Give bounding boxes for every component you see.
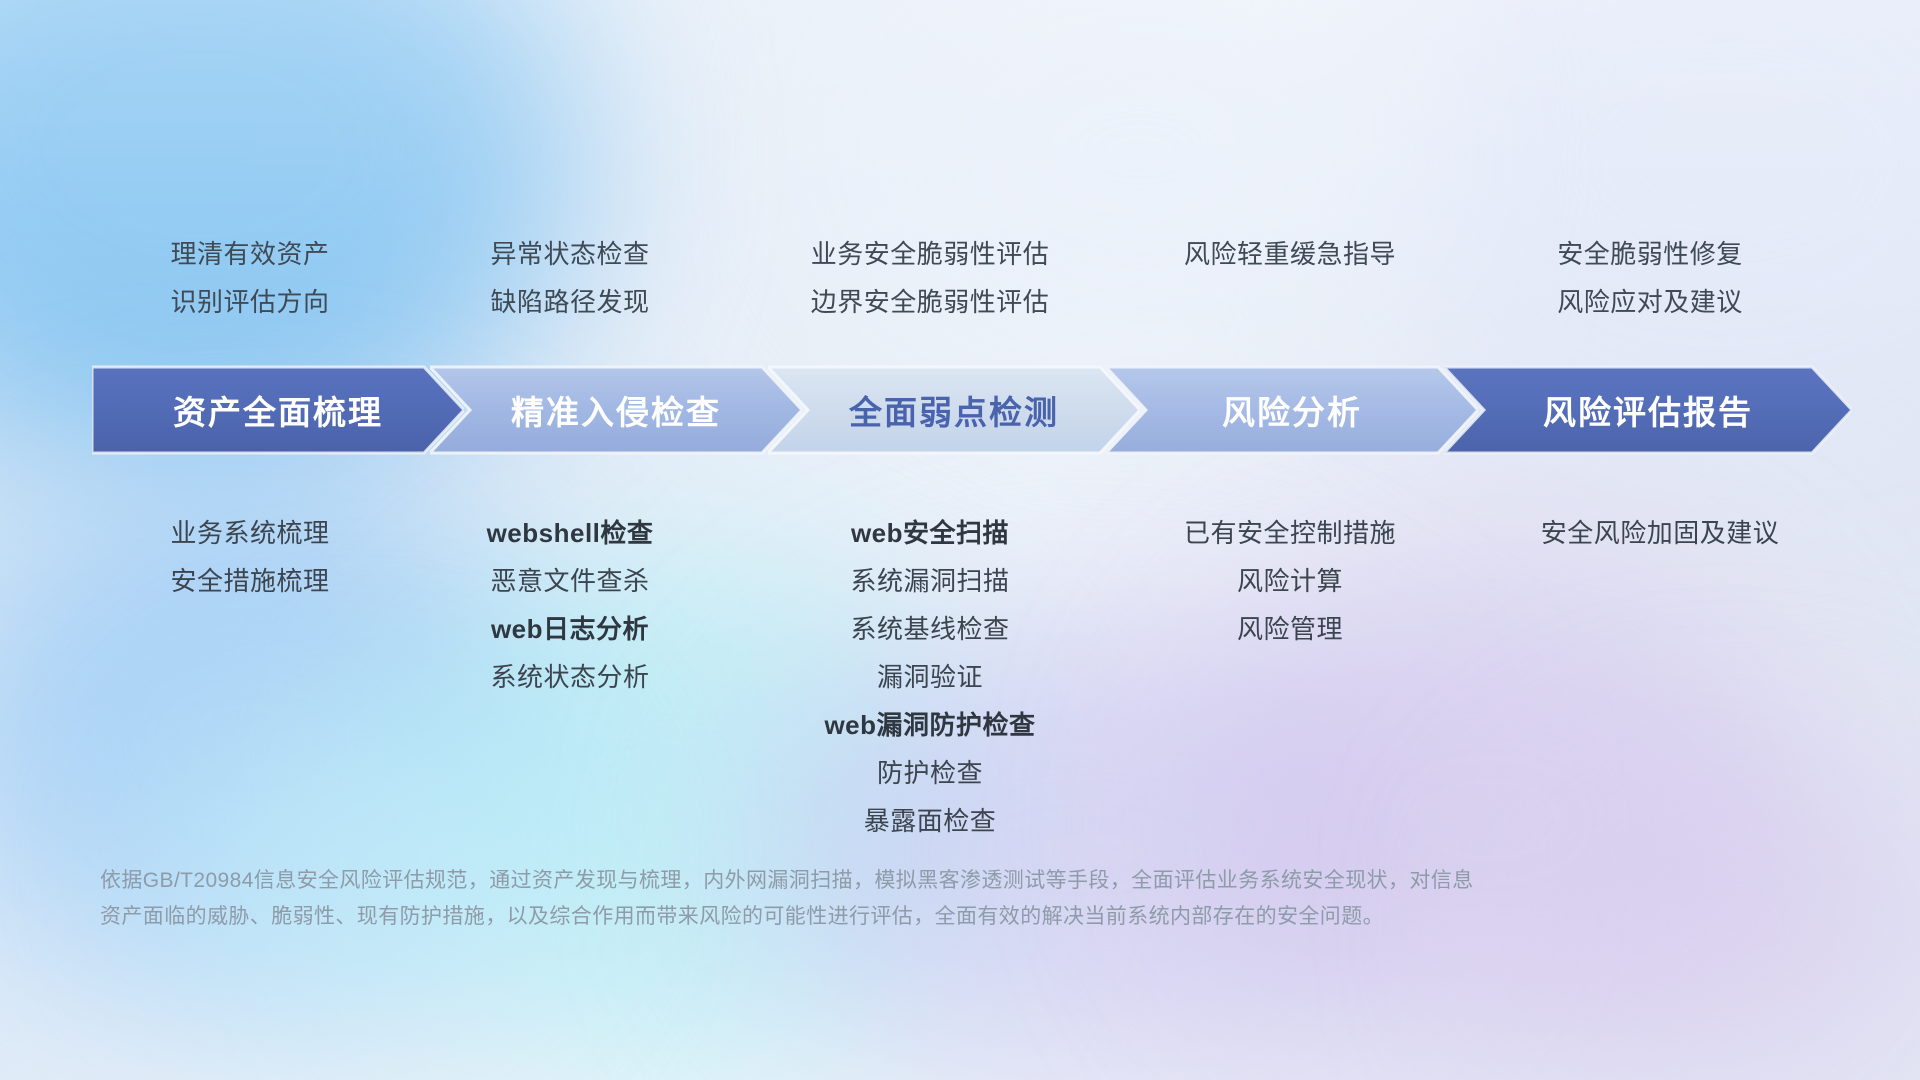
- top-items-weakness: 业务安全脆弱性评估 边界安全脆弱性评估: [720, 230, 1140, 326]
- bottom-item: 系统漏洞扫描: [720, 557, 1140, 605]
- stage-label: 资产全面梳理: [173, 386, 383, 434]
- bottom-item: 已有安全控制措施: [1080, 509, 1500, 557]
- bottom-item: web安全扫描: [720, 509, 1140, 557]
- bottom-item: 系统基线检查: [720, 605, 1140, 653]
- stage-chevron-asset[interactable]: 资产全面梳理: [92, 365, 464, 455]
- top-item: 风险轻重缓急指导: [1080, 230, 1500, 278]
- footer-note: 依据GB/T20984信息安全风险评估规范，通过资产发现与梳理，内外网漏洞扫描，…: [100, 863, 1580, 935]
- bottom-item: web日志分析: [360, 605, 780, 653]
- stage-chevron-risk-analysis[interactable]: 风险分析: [1106, 365, 1478, 455]
- bottom-item: 安全风险加固及建议: [1440, 509, 1880, 557]
- stage-label: 全面弱点检测: [849, 386, 1059, 434]
- footer-line-2: 资产面临的威胁、脆弱性、现有防护措施，以及综合作用而带来风险的可能性进行评估，全…: [100, 899, 1580, 935]
- bottom-items-intrusion: webshell检查 恶意文件查杀 web日志分析 系统状态分析: [360, 509, 780, 701]
- stage-chevron-weakness[interactable]: 全面弱点检测: [768, 365, 1140, 455]
- bottom-items-weakness: web安全扫描 系统漏洞扫描 系统基线检查 漏洞验证 web漏洞防护检查 防护检…: [720, 509, 1140, 845]
- bottom-item: 漏洞验证: [720, 653, 1140, 701]
- top-item: 边界安全脆弱性评估: [720, 278, 1140, 326]
- bottom-item: 风险计算: [1080, 557, 1500, 605]
- stage-chevron-report[interactable]: 风险评估报告: [1444, 365, 1852, 455]
- process-diagram: 理清有效资产 识别评估方向 异常状态检查 缺陷路径发现 业务安全脆弱性评估 边界…: [0, 0, 1920, 1080]
- bottom-item: 风险管理: [1080, 605, 1500, 653]
- bottom-item: 恶意文件查杀: [360, 557, 780, 605]
- bottom-item: 防护检查: [720, 749, 1140, 797]
- top-item: 缺陷路径发现: [360, 278, 780, 326]
- stage-label: 精准入侵检查: [511, 386, 721, 434]
- top-items-risk-analysis: 风险轻重缓急指导: [1080, 230, 1500, 278]
- top-item: 风险应对及建议: [1440, 278, 1860, 326]
- stage-chevron-intrusion[interactable]: 精准入侵检查: [430, 365, 802, 455]
- top-items-intrusion: 异常状态检查 缺陷路径发现: [360, 230, 780, 326]
- process-stage-band: 资产全面梳理 精准入侵检查: [92, 365, 1852, 455]
- footer-line-1: 依据GB/T20984信息安全风险评估规范，通过资产发现与梳理，内外网漏洞扫描，…: [100, 863, 1580, 899]
- bottom-item: web漏洞防护检查: [720, 701, 1140, 749]
- top-items-report: 安全脆弱性修复 风险应对及建议: [1440, 230, 1860, 326]
- top-item: 安全脆弱性修复: [1440, 230, 1860, 278]
- top-item: 业务安全脆弱性评估: [720, 230, 1140, 278]
- bottom-items-risk-analysis: 已有安全控制措施 风险计算 风险管理: [1080, 509, 1500, 653]
- bottom-item: 系统状态分析: [360, 653, 780, 701]
- stage-label: 风险分析: [1222, 386, 1362, 434]
- stage-label: 风险评估报告: [1543, 386, 1753, 434]
- top-item: 异常状态检查: [360, 230, 780, 278]
- bottom-items-report: 安全风险加固及建议: [1440, 509, 1880, 557]
- bottom-item: webshell检查: [360, 509, 780, 557]
- bottom-item: 暴露面检查: [720, 797, 1140, 845]
